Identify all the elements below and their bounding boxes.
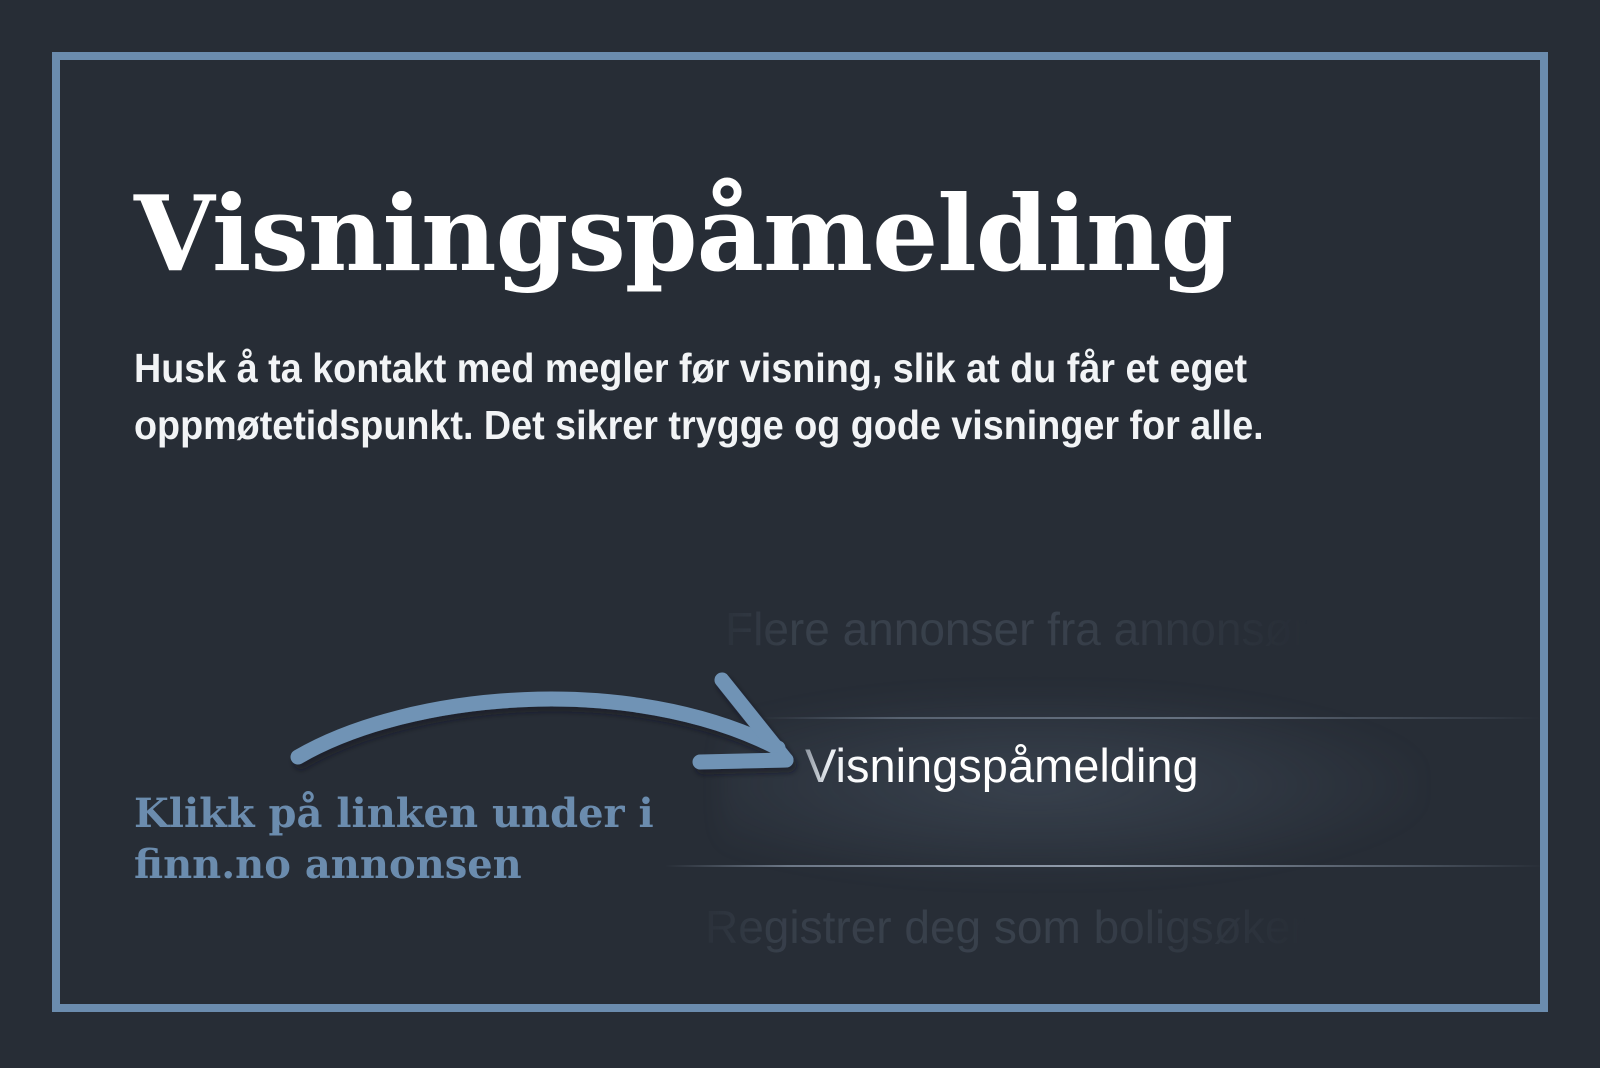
arrow-caption-line-1: Klikk på linken under i: [134, 788, 694, 839]
page-title: Visningspåmelding: [134, 178, 1232, 290]
link-divider-lower: [665, 865, 1545, 867]
link-divider-upper: [760, 717, 1540, 719]
link-registrer-boligsoker[interactable]: Registrer deg som boligsøker: [705, 900, 1306, 954]
arrow-caption: Klikk på linken under i finn.no annonsen: [134, 788, 694, 890]
intro-paragraph: Husk å ta kontakt med megler før visning…: [134, 340, 1266, 453]
link-flere-annonser[interactable]: Flere annonser fra annonsør: [725, 602, 1308, 656]
poster-root: Flere annonser fra annonsør Visningspåme…: [0, 0, 1600, 1068]
curved-arrow-icon: [270, 660, 830, 790]
arrow-caption-line-2: finn.no annonsen: [134, 839, 694, 890]
intro-line-1: Husk å ta kontakt med megler før visning…: [134, 340, 1266, 397]
intro-line-2: oppmøtetidspunkt. Det sikrer trygge og g…: [134, 397, 1266, 454]
link-visningspamelding[interactable]: Visningspåmelding: [805, 738, 1199, 793]
